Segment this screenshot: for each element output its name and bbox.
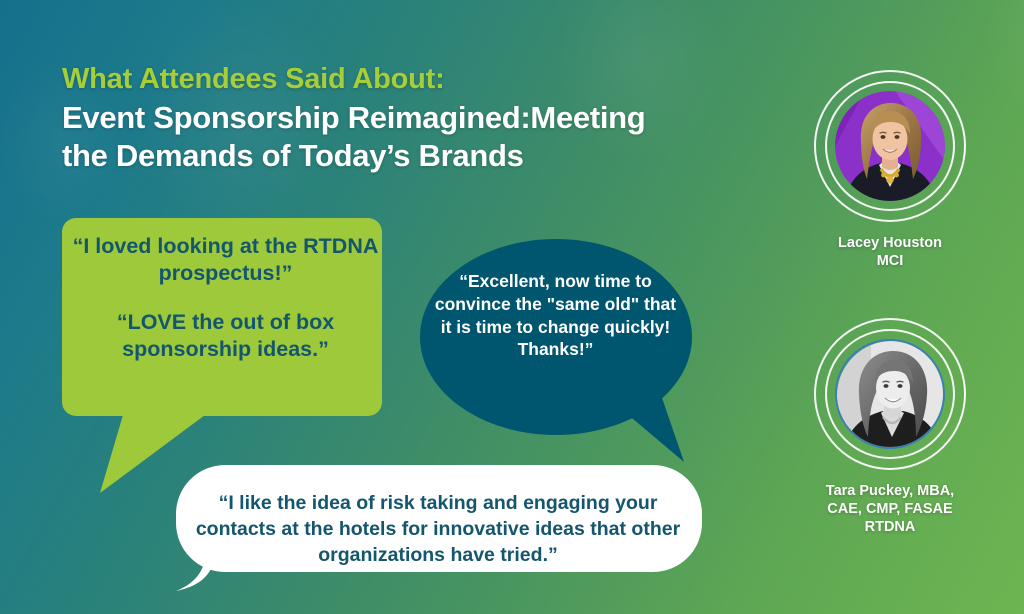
avatar-photo-lacey-houston bbox=[835, 91, 945, 201]
avatar bbox=[814, 70, 966, 222]
green-quote-line-2: “LOVE the out of box sponsorship ideas.” bbox=[68, 309, 383, 363]
avatar-photo-tara-puckey bbox=[835, 339, 945, 449]
avatar bbox=[814, 318, 966, 470]
teal-quote-line-1: “Excellent, now time to convince the "sa… bbox=[432, 270, 679, 361]
white-quote-line-1: “I like the idea of risk taking and enga… bbox=[192, 490, 684, 568]
testimonial-graphic: What Attendees Said About: Event Sponsor… bbox=[0, 0, 1024, 614]
headshot-illustration bbox=[835, 91, 945, 201]
green-quote-line-1: “I loved looking at the RTDNA prospectus… bbox=[68, 233, 383, 287]
headshot-illustration bbox=[837, 341, 945, 449]
white-bubble-quote: “I like the idea of risk taking and enga… bbox=[192, 490, 684, 568]
green-bubble-quote: “I loved looking at the RTDNA prospectus… bbox=[68, 233, 383, 363]
teal-bubble-quote: “Excellent, now time to convince the "sa… bbox=[432, 270, 679, 361]
speaker-name: Lacey Houston MCI bbox=[790, 234, 990, 270]
speaker-tara-puckey: Tara Puckey, MBA, CAE, CMP, FASAE RTDNA bbox=[790, 318, 990, 536]
speaker-lacey-houston: Lacey Houston MCI bbox=[790, 70, 990, 270]
speaker-name: Tara Puckey, MBA, CAE, CMP, FASAE RTDNA bbox=[790, 482, 990, 536]
